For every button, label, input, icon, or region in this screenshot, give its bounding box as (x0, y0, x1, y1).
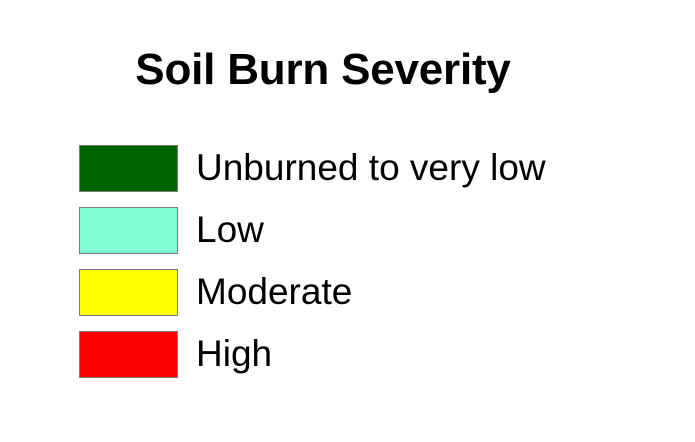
swatch-high (79, 331, 178, 378)
legend-label-low: Low (196, 207, 264, 254)
legend-label-moderate: Moderate (196, 269, 352, 316)
legend-item-low: Low (79, 207, 639, 254)
legend-label-high: High (196, 331, 272, 378)
swatch-low (79, 207, 178, 254)
swatch-unburned-to-very-low (79, 145, 178, 192)
legend-title: Soil Burn Severity (0, 44, 646, 96)
legend-item-moderate: Moderate (79, 269, 639, 316)
legend-label-unburned-to-very-low: Unburned to very low (196, 145, 546, 192)
swatch-moderate (79, 269, 178, 316)
legend-item-unburned-to-very-low: Unburned to very low (79, 145, 639, 192)
legend-item-list: Unburned to very low Low Moderate High (79, 145, 639, 393)
legend-item-high: High (79, 331, 639, 378)
soil-burn-severity-legend: Soil Burn Severity Unburned to very low … (0, 0, 695, 442)
